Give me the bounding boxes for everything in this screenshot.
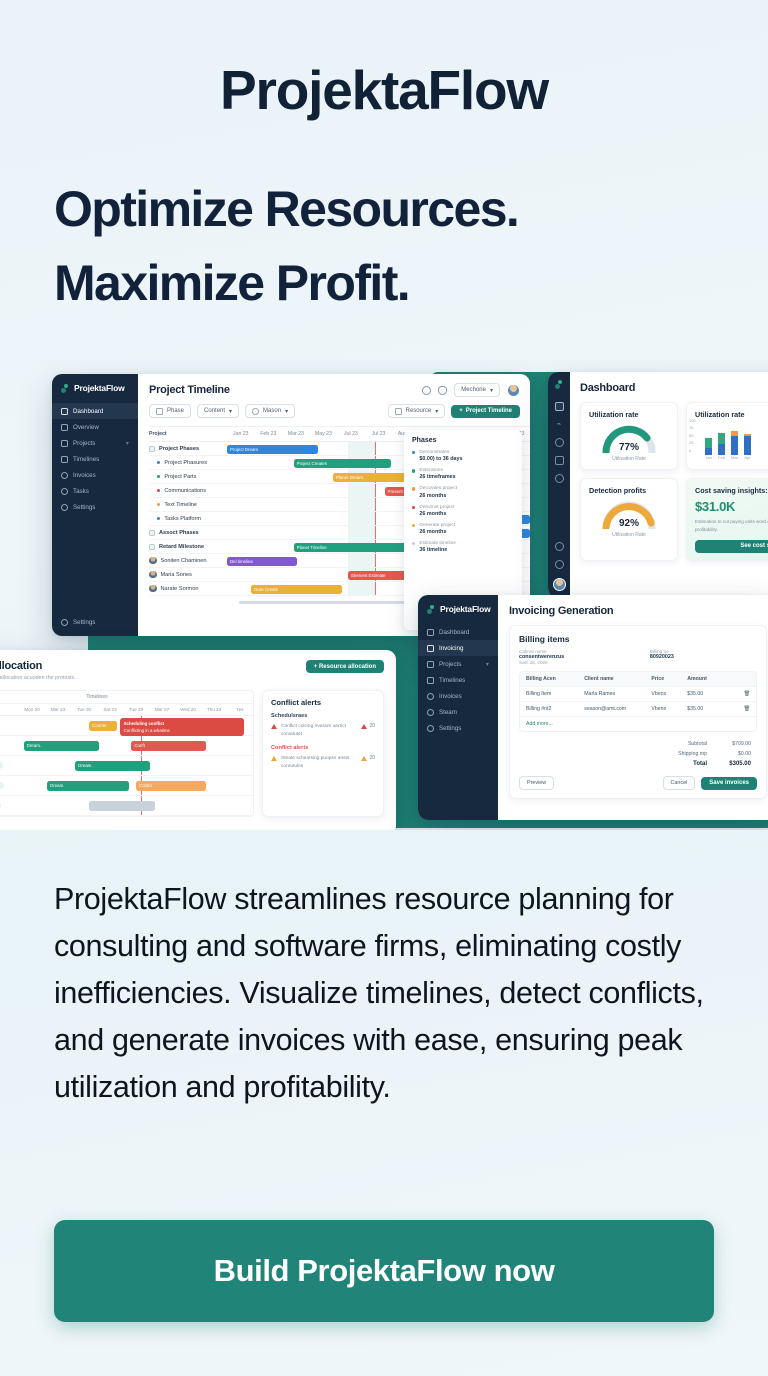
filter-label: Mason [263, 408, 281, 414]
table-cell: season@amt.com [584, 706, 651, 712]
chevron-down-icon: ▾ [490, 387, 493, 394]
cost-saving-desc: Estimation to cut paying units word one … [695, 518, 768, 534]
leaf-logo-icon [555, 380, 564, 389]
table-cell: $35.00 [687, 706, 732, 712]
alert-section-heading: Schedulsraes [271, 713, 375, 719]
timelines-icon [61, 456, 68, 463]
table-header-row: Billing Acen Client name Price Amount [520, 672, 756, 687]
rail-dashboard-icon[interactable] [555, 402, 564, 411]
card-title: Detection profits [589, 486, 669, 495]
conflict-alerts-title: Conflict alerts [271, 698, 375, 707]
gantt-bar[interactable]: Del timeline [227, 557, 297, 566]
conflict-alerts-card: Conflict alerts SchedulsraesConflict col… [262, 690, 384, 817]
day-tick: Mar 07 [149, 707, 175, 712]
sidebar-item-overview[interactable]: Overview [52, 419, 138, 435]
save-invoices-label: Save invoices [709, 780, 749, 786]
headline-line-1: Optimize Resources. [54, 172, 714, 246]
alert-count-value: 20 [369, 755, 375, 761]
cost-saving-amount: $31.0K [695, 499, 768, 514]
total-value: $0.00 [717, 751, 751, 757]
resource-dropdown[interactable]: Resource ▾ [388, 404, 446, 418]
timeline-sidebar: ProjektaFlow Dashboard Overview Projects… [52, 374, 138, 636]
page-title: ProjektaFlow [0, 0, 768, 120]
gantt-row-name: Soniten Chaminen [161, 558, 207, 564]
gauge-caption: Utilization Rate [589, 532, 669, 538]
total-value: $305.00 [717, 761, 751, 767]
headline: Optimize Resources. Maximize Profit. [54, 172, 714, 320]
help-icon[interactable] [422, 386, 431, 395]
gantt-row-label: Maria Sones [149, 571, 227, 579]
phase-color-dot [412, 524, 415, 527]
phase-color-dot [412, 469, 415, 472]
gantt-month-tick: Jul 23 [337, 431, 365, 437]
bar-segment [744, 436, 751, 455]
resource-row[interactable]: Norten Ghan8wDream. [0, 756, 253, 776]
phase-label: Decorates project [419, 485, 457, 492]
mason-icon [252, 408, 259, 415]
allocation-bar[interactable]: Dream. [47, 781, 129, 791]
cta-label: Build ProjektaFlow now [214, 1253, 555, 1289]
sidebar-item-label: Dashboard [439, 629, 469, 636]
status-dot [157, 461, 160, 464]
today-band [348, 484, 375, 497]
project-timeline-label: Project Timeline [466, 408, 512, 414]
alert-count: 20 [361, 723, 375, 729]
leaf-logo-icon [427, 605, 436, 614]
phase-item[interactable]: Extensions26 timeframes [412, 467, 514, 480]
projects-icon [427, 661, 434, 668]
sidebar-item-steam[interactable]: Steam [418, 704, 498, 720]
warning-triangle-icon [271, 724, 277, 729]
phase-label: Demonstrates [419, 449, 462, 456]
mockup-dashboard: ⌁ Dashboard Utilization rate [548, 372, 768, 598]
preview-label: Preview [527, 780, 546, 786]
see-cost-saved-label: See cost saved [740, 543, 768, 549]
utilization-gauge: 77% [601, 423, 657, 453]
sidebar-item-timelines[interactable]: Timelines [418, 672, 498, 688]
alert-text: Conflict colcing ovesom uerrict comatute… [281, 723, 357, 739]
column-header: Billing Acen [526, 676, 584, 682]
gantt-label-column-header: Project [149, 431, 227, 437]
rail-search-icon[interactable] [555, 542, 564, 551]
table-row[interactable]: Billing #nt2season@amt.comVbens$35.00🗑 [520, 702, 756, 717]
invoicing-title: Invoicing Generation [509, 605, 767, 617]
sidebar-item-label: Dashboard [73, 408, 103, 415]
phase-value: 26 timeframes [419, 474, 455, 480]
resource-row[interactable]: Galin SorsayDream.Conft [0, 736, 253, 756]
sidebar-item-projects[interactable]: Projects ▾ [418, 656, 498, 672]
x-tick: Mar [731, 455, 738, 460]
billing-table-rows: Billing ItemMarla RamesVbens$35.00🗑Billi… [520, 687, 756, 717]
gear-icon [61, 504, 68, 511]
cancel-button[interactable]: Cancel [663, 776, 696, 790]
y-tick: 50 [689, 432, 696, 439]
alert-count-value: 20 [369, 723, 375, 729]
x-tick: Feb [718, 455, 725, 460]
mockup-resource-allocation: Resource Allocation Multi resource alloc… [0, 650, 396, 830]
total-label: Subtotal [688, 741, 707, 747]
y-tick: 100 [689, 417, 696, 424]
cta-button[interactable]: Build ProjektaFlow now [54, 1220, 714, 1322]
today-marker [375, 512, 376, 525]
phase-item[interactable]: Generate project26 months [412, 522, 514, 535]
save-invoices-button[interactable]: Save invoices [701, 777, 757, 790]
filter-mason-dropdown[interactable]: Mason ▾ [245, 404, 295, 418]
gantt-month-tick: Feb 23 [255, 431, 283, 437]
capacity-badge: 8w [0, 782, 4, 789]
today-band [348, 526, 375, 539]
allocation-bar[interactable]: Dream. [75, 761, 150, 771]
dashboard-title: Dashboard [580, 382, 768, 394]
avatar [149, 585, 157, 593]
user-menu-button[interactable]: Mechone ▾ [454, 383, 500, 397]
column-header: Client name [584, 676, 651, 682]
invoice-totals: Subtotal$709.00Shipping mp$0.00Total$305… [519, 739, 757, 769]
gantt-row-name: Project Phases [159, 446, 199, 452]
day-tick: Tes [227, 707, 253, 712]
status-dot [157, 517, 160, 520]
delete-icon[interactable]: 🗑 [732, 691, 750, 697]
resource-row[interactable]: Bas Miserta8w [0, 796, 253, 816]
gantt-bar[interactable]: Dure Create [251, 585, 342, 594]
gantt-row-label: Project Phases [149, 446, 227, 452]
projects-icon [61, 440, 68, 447]
resource-person: Norten Ghan8w [0, 762, 19, 770]
sidebar-item-dashboard[interactable]: Dashboard [418, 624, 498, 640]
resource-person: Alex Silos8w [0, 722, 19, 730]
total-value: $709.00 [717, 741, 751, 747]
phase-color-dot [412, 451, 415, 454]
gantt-month-tick: Jul 23 [365, 431, 393, 437]
plus-icon: + [459, 408, 463, 414]
leaf-logo-icon [61, 384, 70, 393]
steam-icon [427, 709, 434, 716]
dashboard-rail: ⌁ [548, 372, 570, 598]
timeline-topbar: Project Timeline Mechone ▾ [138, 374, 530, 404]
phases-list: Demonstrates$0.00) to 36 daysExtensions2… [412, 449, 514, 553]
total-label: Shipping mp [678, 751, 707, 757]
card-title: Cost saving insights: [695, 486, 768, 495]
bar-segment [731, 436, 738, 455]
alert-item[interactable]: Conflict colcing ovesom uerrict comatute… [271, 723, 375, 739]
sidebar-item-label: Projects [439, 661, 461, 668]
sidebar-item-label: Timelines [73, 456, 99, 463]
phase-label: Extensions [419, 467, 455, 474]
see-cost-saved-button[interactable]: See cost saved [695, 540, 768, 553]
avatar [149, 557, 157, 565]
gantt-row-label: Communications [149, 488, 227, 494]
day-tick: Sat 23 [97, 707, 123, 712]
phase-value: 26 months [419, 529, 455, 535]
invoicing-sidebar-logo: ProjektaFlow [418, 595, 498, 624]
resource-row[interactable]: Antie Gocber8wDream.Conter [0, 776, 253, 796]
warning-triangle-icon [271, 756, 277, 761]
resource-main: Resource Allocation Multi resource alloc… [0, 650, 396, 830]
sidebar-item-label: Projects [73, 440, 95, 447]
today-band [348, 582, 375, 595]
table-cell: Billing Item [526, 691, 584, 697]
gauge-value: 92% [601, 518, 657, 529]
phase-item[interactable]: Demonstrates$0.00) to 36 days [412, 449, 514, 462]
gantt-row-label: Retard Milestone [149, 544, 227, 550]
phase-icon [156, 408, 163, 415]
sidebar-item-tasks[interactable]: Tasks [52, 483, 138, 499]
resource-row[interactable]: Alex Silos8wCountsScheduling conflictCon… [0, 716, 253, 736]
phase-label: Generate project [419, 522, 455, 529]
gantt-row-name: Project Phasures [164, 460, 207, 466]
rail-help-icon[interactable] [555, 560, 564, 569]
group-icon [149, 446, 155, 452]
sidebar-item-label: Invoices [73, 472, 96, 479]
resource-day-axis: Mon 20Mar 23Tue 30Sat 23Tue 29Mar 07Wed … [19, 707, 253, 712]
warning-triangle-icon [361, 724, 367, 729]
resource-timeline-label: Timelines [0, 691, 253, 704]
column-header: Price [651, 676, 687, 682]
allocation-bar[interactable]: Dream. [24, 741, 99, 751]
card-utilization-gauge: Utilization rate 77% Utilization Rate [580, 402, 678, 470]
day-tick: Mar 23 [45, 707, 71, 712]
timeline-toolbar: Phase Content ▾ Mason ▾ Resource ▾ [138, 404, 530, 426]
gear-icon [61, 619, 68, 626]
gantt-row-name: Maria Sones [161, 572, 192, 578]
filter-content-dropdown[interactable]: Content ▾ [197, 404, 239, 418]
headline-line-2: Maximize Profit. [54, 246, 714, 320]
cancel-label: Cancel [671, 780, 688, 786]
card-title: Utilization rate [589, 410, 669, 419]
delete-icon[interactable]: 🗑 [732, 706, 750, 712]
rail-timelines-icon[interactable] [555, 438, 564, 447]
filter-label: Content [204, 408, 225, 414]
rail-settings-icon[interactable] [555, 474, 564, 483]
gantt-row-name: Tasks Platform [164, 516, 201, 522]
bar-column[interactable] [718, 433, 725, 455]
resource-track: Dream. [19, 756, 253, 775]
card-title: Utilization rate [695, 410, 745, 419]
invoicing-main: Invoicing Generation Billing items Cabne… [498, 595, 768, 820]
bar-column[interactable] [744, 434, 751, 455]
dashboard-icon [61, 408, 68, 415]
table-cell: Marla Rames [584, 691, 651, 697]
phase-color-dot [412, 542, 415, 545]
gantt-row-name: Retard Milestone [159, 544, 204, 550]
resource-track [19, 796, 253, 815]
bar-column[interactable] [705, 438, 712, 455]
sidebar-item-timelines[interactable]: Timelines [52, 451, 138, 467]
resource-grid: Timelines Mon 20Mar 23Tue 30Sat 23Tue 29… [0, 690, 254, 817]
invoicing-icon [427, 645, 434, 652]
total-row: Shipping mp$0.00 [519, 749, 757, 759]
tooltip-sub: Conflicting in a whatime [124, 727, 240, 734]
tasks-icon [61, 488, 68, 495]
resource-title: Resource Allocation [0, 660, 76, 672]
avatar [149, 571, 157, 579]
bar-segment [705, 448, 712, 456]
sidebar-item-invoicing[interactable]: Invoicing [418, 640, 498, 656]
day-tick: Tue 30 [71, 707, 97, 712]
body-paragraph: ProjektaFlow streamlines resource planni… [54, 876, 724, 1111]
rail-avatar[interactable] [553, 578, 566, 591]
sidebar-item-dashboard[interactable]: Dashboard [52, 403, 138, 419]
phase-value: 36 timeline [419, 547, 456, 553]
chevron-down-icon: ▾ [126, 440, 129, 447]
sidebar-item-invoices[interactable]: Invoices [52, 467, 138, 483]
sidebar-item-label: Settings [439, 725, 461, 732]
resource-rows: Alex Silos8wCountsScheduling conflictCon… [0, 716, 253, 816]
capacity-badge: 8w [0, 762, 3, 769]
day-tick: Tue 29 [123, 707, 149, 712]
table-row[interactable]: Billing ItemMarla RamesVbens$35.00🗑 [520, 687, 756, 702]
today-marker [375, 442, 376, 455]
sidebar-footer-label: Settings [73, 619, 95, 626]
add-more-link: Add more... [526, 721, 553, 727]
gantt-month-tick: May 23 [310, 431, 338, 437]
sidebar-item-invoices[interactable]: Invoices [418, 688, 498, 704]
conflict-alerts-list: SchedulsraesConflict colcing ovesom uerr… [271, 713, 375, 771]
bar-chart-y-axis: 1007050250 [689, 417, 696, 454]
avatar[interactable] [507, 384, 520, 397]
filter-label: Phase [167, 408, 184, 414]
table-cell: $35.00 [687, 691, 732, 697]
billing-items-title: Billing items [519, 634, 757, 644]
overview-icon [61, 424, 68, 431]
add-resource-allocation-button[interactable]: + Resource allocation [306, 660, 384, 673]
dashboard-main: Dashboard Utilization rate 77% Utilizati… [570, 372, 768, 598]
gantt-month-tick: Jan 23 [227, 431, 255, 437]
invoicing-sidebar: ProjektaFlow Dashboard Invoicing Project… [418, 595, 498, 820]
today-band [348, 498, 375, 511]
phase-value: $0.00) to 36 days [419, 456, 462, 462]
bell-icon[interactable] [438, 386, 447, 395]
card-cost-saving: Cost saving insights: $31.0K Estimation … [686, 478, 768, 561]
gantt-bar[interactable]: Project Creates [294, 459, 391, 468]
invoices-icon [61, 472, 68, 479]
add-more-row[interactable]: Add more... [520, 717, 756, 731]
invoicing-brand-label: ProjektaFlow [440, 604, 491, 614]
timelines-icon [427, 677, 434, 684]
bar-chart-x-axis: JanFebMarApr [695, 455, 768, 460]
y-tick: 0 [689, 447, 696, 454]
alert-text: Steate schearsing puopse ansts conrutule… [281, 755, 357, 771]
sidebar-item-label: Invoices [439, 693, 462, 700]
gantt-month-tick: Mar 23 [282, 431, 310, 437]
allocation-bar[interactable]: Conft [131, 741, 206, 751]
gantt-row-label: Soniten Chaminen [149, 557, 227, 565]
warning-triangle-icon [361, 756, 367, 761]
allocation-bar[interactable] [89, 801, 155, 811]
dashboard-icon [427, 629, 434, 636]
table-cell: Billing #nt2 [526, 706, 584, 712]
gantt-bar[interactable]: Project Dream [227, 445, 318, 454]
gantt-row-label: Text Timeline [149, 502, 227, 508]
resource-label: Resource [406, 408, 432, 414]
mockup-invoicing-generation: ProjektaFlow Dashboard Invoicing Project… [418, 595, 768, 820]
sidebar-item-projects[interactable]: Projects ▾ [52, 435, 138, 451]
day-tick: Wed 20 [175, 707, 201, 712]
bar-segment [718, 433, 725, 443]
billing-meta: Cabnet name consentwerenzus Sam 25, 2025… [519, 649, 757, 665]
rail-invoices-icon[interactable] [555, 456, 564, 465]
total-row: Total$305.00 [519, 759, 757, 769]
billing-no-value: 80920023 [650, 654, 757, 660]
total-label: Total [693, 761, 707, 767]
card-detection-profits: Detection profits 92% Utilization Rate [580, 478, 678, 561]
gantt-row-label: Assoct Phases [149, 530, 227, 536]
sidebar-item-label: Timelines [439, 677, 465, 684]
alert-item[interactable]: Steate schearsing puopse ansts conrutule… [271, 755, 375, 771]
phase-item[interactable]: Estimate timeline36 timeline [412, 540, 514, 553]
gantt-row-label: Narate Sormon [149, 585, 227, 593]
gantt-row-name: Project Parts [164, 474, 196, 480]
conflict-tooltip: Scheduling conflictConflicting in a what… [120, 718, 244, 736]
invoice-actions: Preview Cancel Save invoices [519, 776, 757, 790]
preview-button[interactable]: Preview [519, 776, 554, 790]
user-menu-label: Mechone [461, 387, 486, 393]
today-marker [375, 498, 376, 511]
billing-date: Sam 25, 2025 [519, 660, 564, 665]
filter-phase-button[interactable]: Phase [149, 404, 191, 418]
bar-segment [718, 444, 725, 455]
profits-gauge: 92% [601, 499, 657, 529]
chevron-down-icon: ▾ [229, 408, 232, 415]
add-resource-label: + Resource allocation [314, 664, 376, 670]
resource-person: Antie Gocber8w [0, 782, 19, 790]
gantt-row-name: Text Timeline [164, 502, 197, 508]
today-band [348, 442, 375, 455]
gear-icon [427, 725, 434, 732]
timeline-brand-label: ProjektaFlow [74, 383, 125, 393]
billing-items-card: Billing items Cabnet name consentwerenzu… [509, 625, 767, 799]
gantt-bar[interactable]: Planet Dream [333, 473, 415, 482]
sidebar-item-label: Steam [439, 709, 457, 716]
day-tick: Thu 23 [201, 707, 227, 712]
phase-item[interactable]: Demonst project26 months [412, 504, 514, 517]
status-dot [157, 503, 160, 506]
phase-label: Demonst project [419, 504, 454, 511]
phase-label: Estimate timeline [419, 540, 456, 547]
resource-person: Bas Miserta8w [0, 802, 19, 810]
alert-section-heading: Conflict alerts [271, 745, 375, 751]
phase-item[interactable]: Decorates project26 months [412, 485, 514, 498]
bar-chart [695, 423, 768, 455]
day-tick: Mon 20 [19, 707, 45, 712]
gauge-value: 77% [601, 442, 657, 453]
table-cell: Vbens [651, 691, 687, 697]
today-marker [375, 526, 376, 539]
phases-card-title: Phases [412, 437, 514, 444]
allocation-bar[interactable]: Counts [89, 721, 117, 731]
tooltip-title: Scheduling conflict [124, 721, 165, 726]
group-icon [149, 530, 155, 536]
bar-column[interactable] [731, 431, 738, 455]
sidebar-item-settings[interactable]: Settings [52, 499, 138, 515]
rail-projects-icon[interactable]: ⌁ [555, 420, 564, 429]
x-tick: Apr [744, 455, 751, 460]
today-band [348, 512, 375, 525]
status-dot [157, 475, 160, 478]
allocation-bar[interactable]: Conter [136, 781, 206, 791]
resource-track: Dream.Conft [19, 736, 253, 755]
gantt-row-label: Tasks Platform [149, 516, 227, 522]
resource-person: Galin Sorsay [0, 742, 19, 750]
today-marker [375, 484, 376, 497]
group-icon [149, 544, 155, 550]
today-marker [375, 582, 376, 595]
gantt-row-label: Project Parts [149, 474, 227, 480]
project-timeline-button[interactable]: + Project Timeline [451, 405, 520, 418]
gantt-row-label: Project Phasures [149, 460, 227, 466]
sidebar-item-settings[interactable]: Settings [418, 720, 498, 736]
today-band [348, 554, 375, 567]
